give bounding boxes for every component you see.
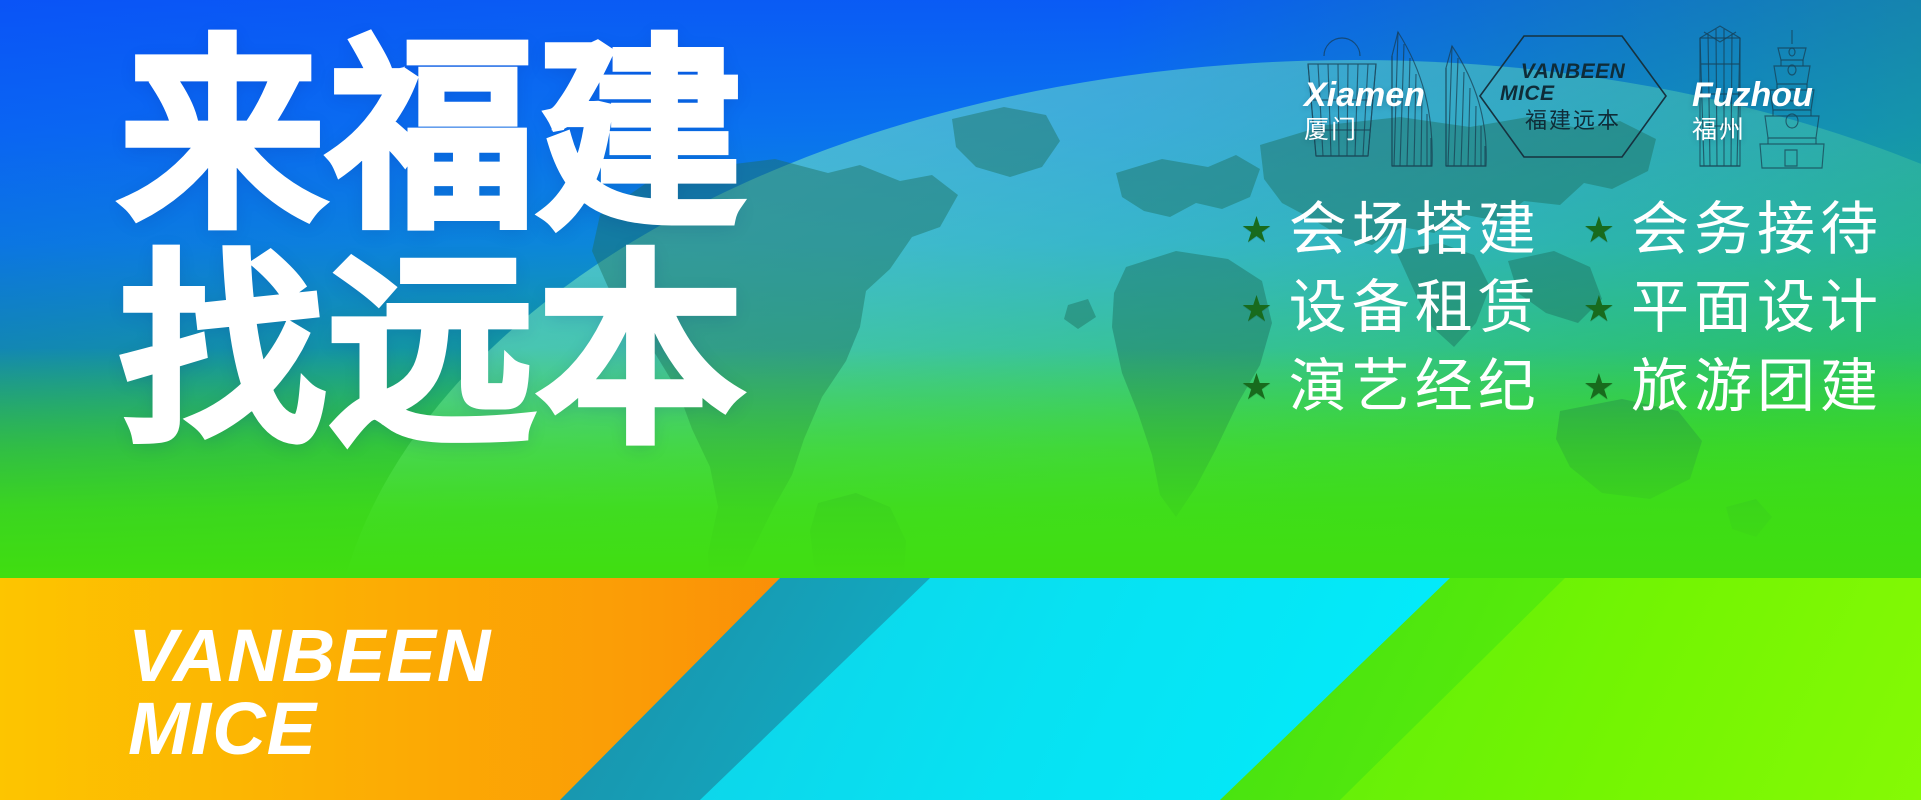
brand-line-2: MICE xyxy=(128,693,491,766)
service-label: 会场搭建 xyxy=(1289,196,1541,264)
logo-line-2: MICE xyxy=(1500,83,1555,105)
hexagon-logo-text: VANBEEN MICE 福建远本 xyxy=(1478,34,1668,159)
city-label-fuzhou: Fuzhou 福州 xyxy=(1692,78,1813,145)
brand-wordmark: VANBEEN MICE xyxy=(128,620,491,765)
city-label-xiamen: Xiamen 厦门 xyxy=(1304,78,1425,145)
service-label: 会务接待 xyxy=(1631,196,1883,264)
star-icon: ★ xyxy=(1240,291,1272,327)
service-item[interactable]: ★ 会场搭建 xyxy=(1240,196,1540,264)
headline: 来福建 找远本 xyxy=(120,38,747,454)
city-name-en: Fuzhou xyxy=(1692,78,1813,112)
city-name-cn: 福州 xyxy=(1692,115,1813,145)
hero-section: 来福建 找远本 ★ 会场搭建 ★ 会务接待 ★ 设备租赁 ★ 平面设计 ★ xyxy=(0,0,1921,578)
service-label: 平面设计 xyxy=(1631,274,1883,342)
service-item[interactable]: ★ 会务接待 xyxy=(1583,196,1883,264)
star-icon: ★ xyxy=(1240,212,1272,248)
star-icon: ★ xyxy=(1583,369,1615,405)
service-item[interactable]: ★ 平面设计 xyxy=(1583,274,1883,342)
city-name-cn: 厦门 xyxy=(1304,115,1425,145)
service-label: 设备租赁 xyxy=(1289,274,1541,342)
hexagon-logo[interactable]: VANBEEN MICE 福建远本 xyxy=(1478,34,1668,159)
bottom-brand-bar: VANBEEN MICE xyxy=(0,578,1921,800)
service-item[interactable]: ★ 演艺经纪 xyxy=(1240,353,1540,421)
headline-line-1: 来福建 xyxy=(120,38,747,239)
brand-line-1: VANBEEN xyxy=(128,614,491,697)
city-logo-cluster: Xiamen 厦门 Fuzhou 福州 VANBEEN MICE 福建远本 xyxy=(1300,8,1900,178)
star-icon: ★ xyxy=(1240,369,1272,405)
service-item[interactable]: ★ 旅游团建 xyxy=(1583,353,1883,421)
headline-line-2: 找远本 xyxy=(120,253,747,454)
services-list: ★ 会场搭建 ★ 会务接待 ★ 设备租赁 ★ 平面设计 ★ 演艺经纪 ★ 旅游团 xyxy=(1240,196,1883,421)
star-icon: ★ xyxy=(1583,212,1615,248)
service-label: 旅游团建 xyxy=(1631,353,1883,421)
service-item[interactable]: ★ 设备租赁 xyxy=(1240,274,1540,342)
star-icon: ★ xyxy=(1583,291,1615,327)
logo-line-3: 福建远本 xyxy=(1525,109,1621,132)
promotional-banner: 来福建 找远本 ★ 会场搭建 ★ 会务接待 ★ 设备租赁 ★ 平面设计 ★ xyxy=(0,0,1921,800)
city-name-en: Xiamen xyxy=(1304,78,1425,112)
service-label: 演艺经纪 xyxy=(1289,353,1541,421)
logo-line-1: VANBEEN xyxy=(1521,61,1626,83)
